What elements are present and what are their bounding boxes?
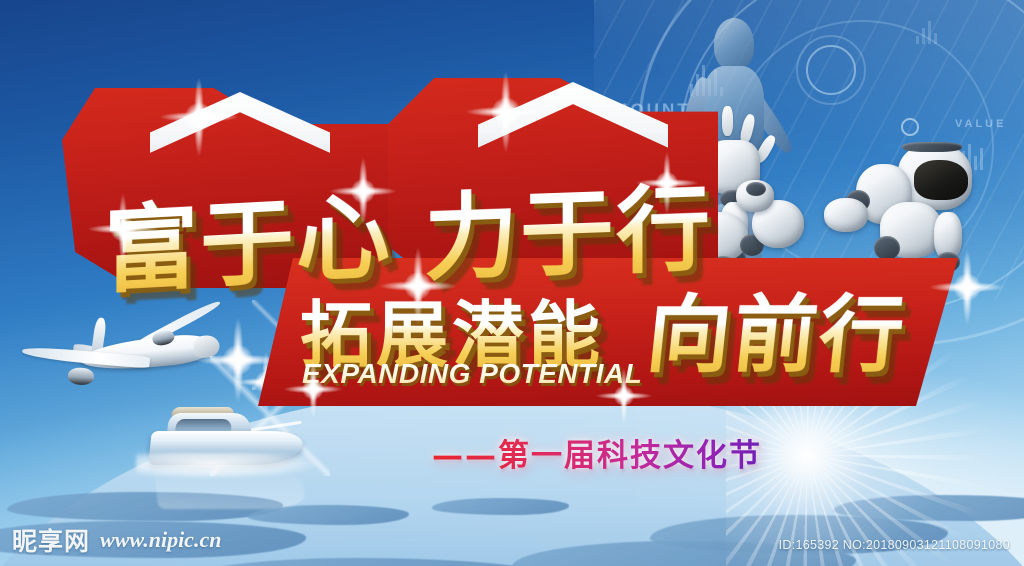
speedboat-illustration [150,405,310,475]
boat-windshield [175,419,233,431]
hud-circle-icon [901,118,919,136]
robot-visor [914,160,968,200]
headline-english-subtitle: EXPANDING POTENTIAL [302,358,642,390]
bg-label-value: VALUE [955,118,1006,130]
boat-reflection [154,467,306,509]
robot-neck-joint [746,182,766,196]
watermark: 昵享网 www.nipic.cn [12,522,221,558]
robot-head-band [902,142,962,152]
airplane-illustration [13,292,238,419]
headline-text-xiang-qian-xing: 向前行 [642,268,913,389]
landmass-shape [168,558,558,566]
asset-id-label: ID:165392 NO:20180903121108091080 [779,538,1010,552]
watermark-url: www.nipic.cn [100,527,221,553]
airplane-nose [192,334,220,359]
landmass-shape [432,498,570,515]
hud-circle-icon [796,35,866,105]
hud-bar-chart-icon [916,18,937,44]
watermark-brand: 昵享网 [12,522,90,558]
robot-hip-joint [874,236,900,260]
robot-finger [722,106,733,136]
poster-canvas: AMOUNT VALUE [0,0,1024,566]
event-subtitle: ——第一届科技文化节 [432,430,762,475]
android-head [714,18,754,70]
airplane-engine [68,367,95,385]
